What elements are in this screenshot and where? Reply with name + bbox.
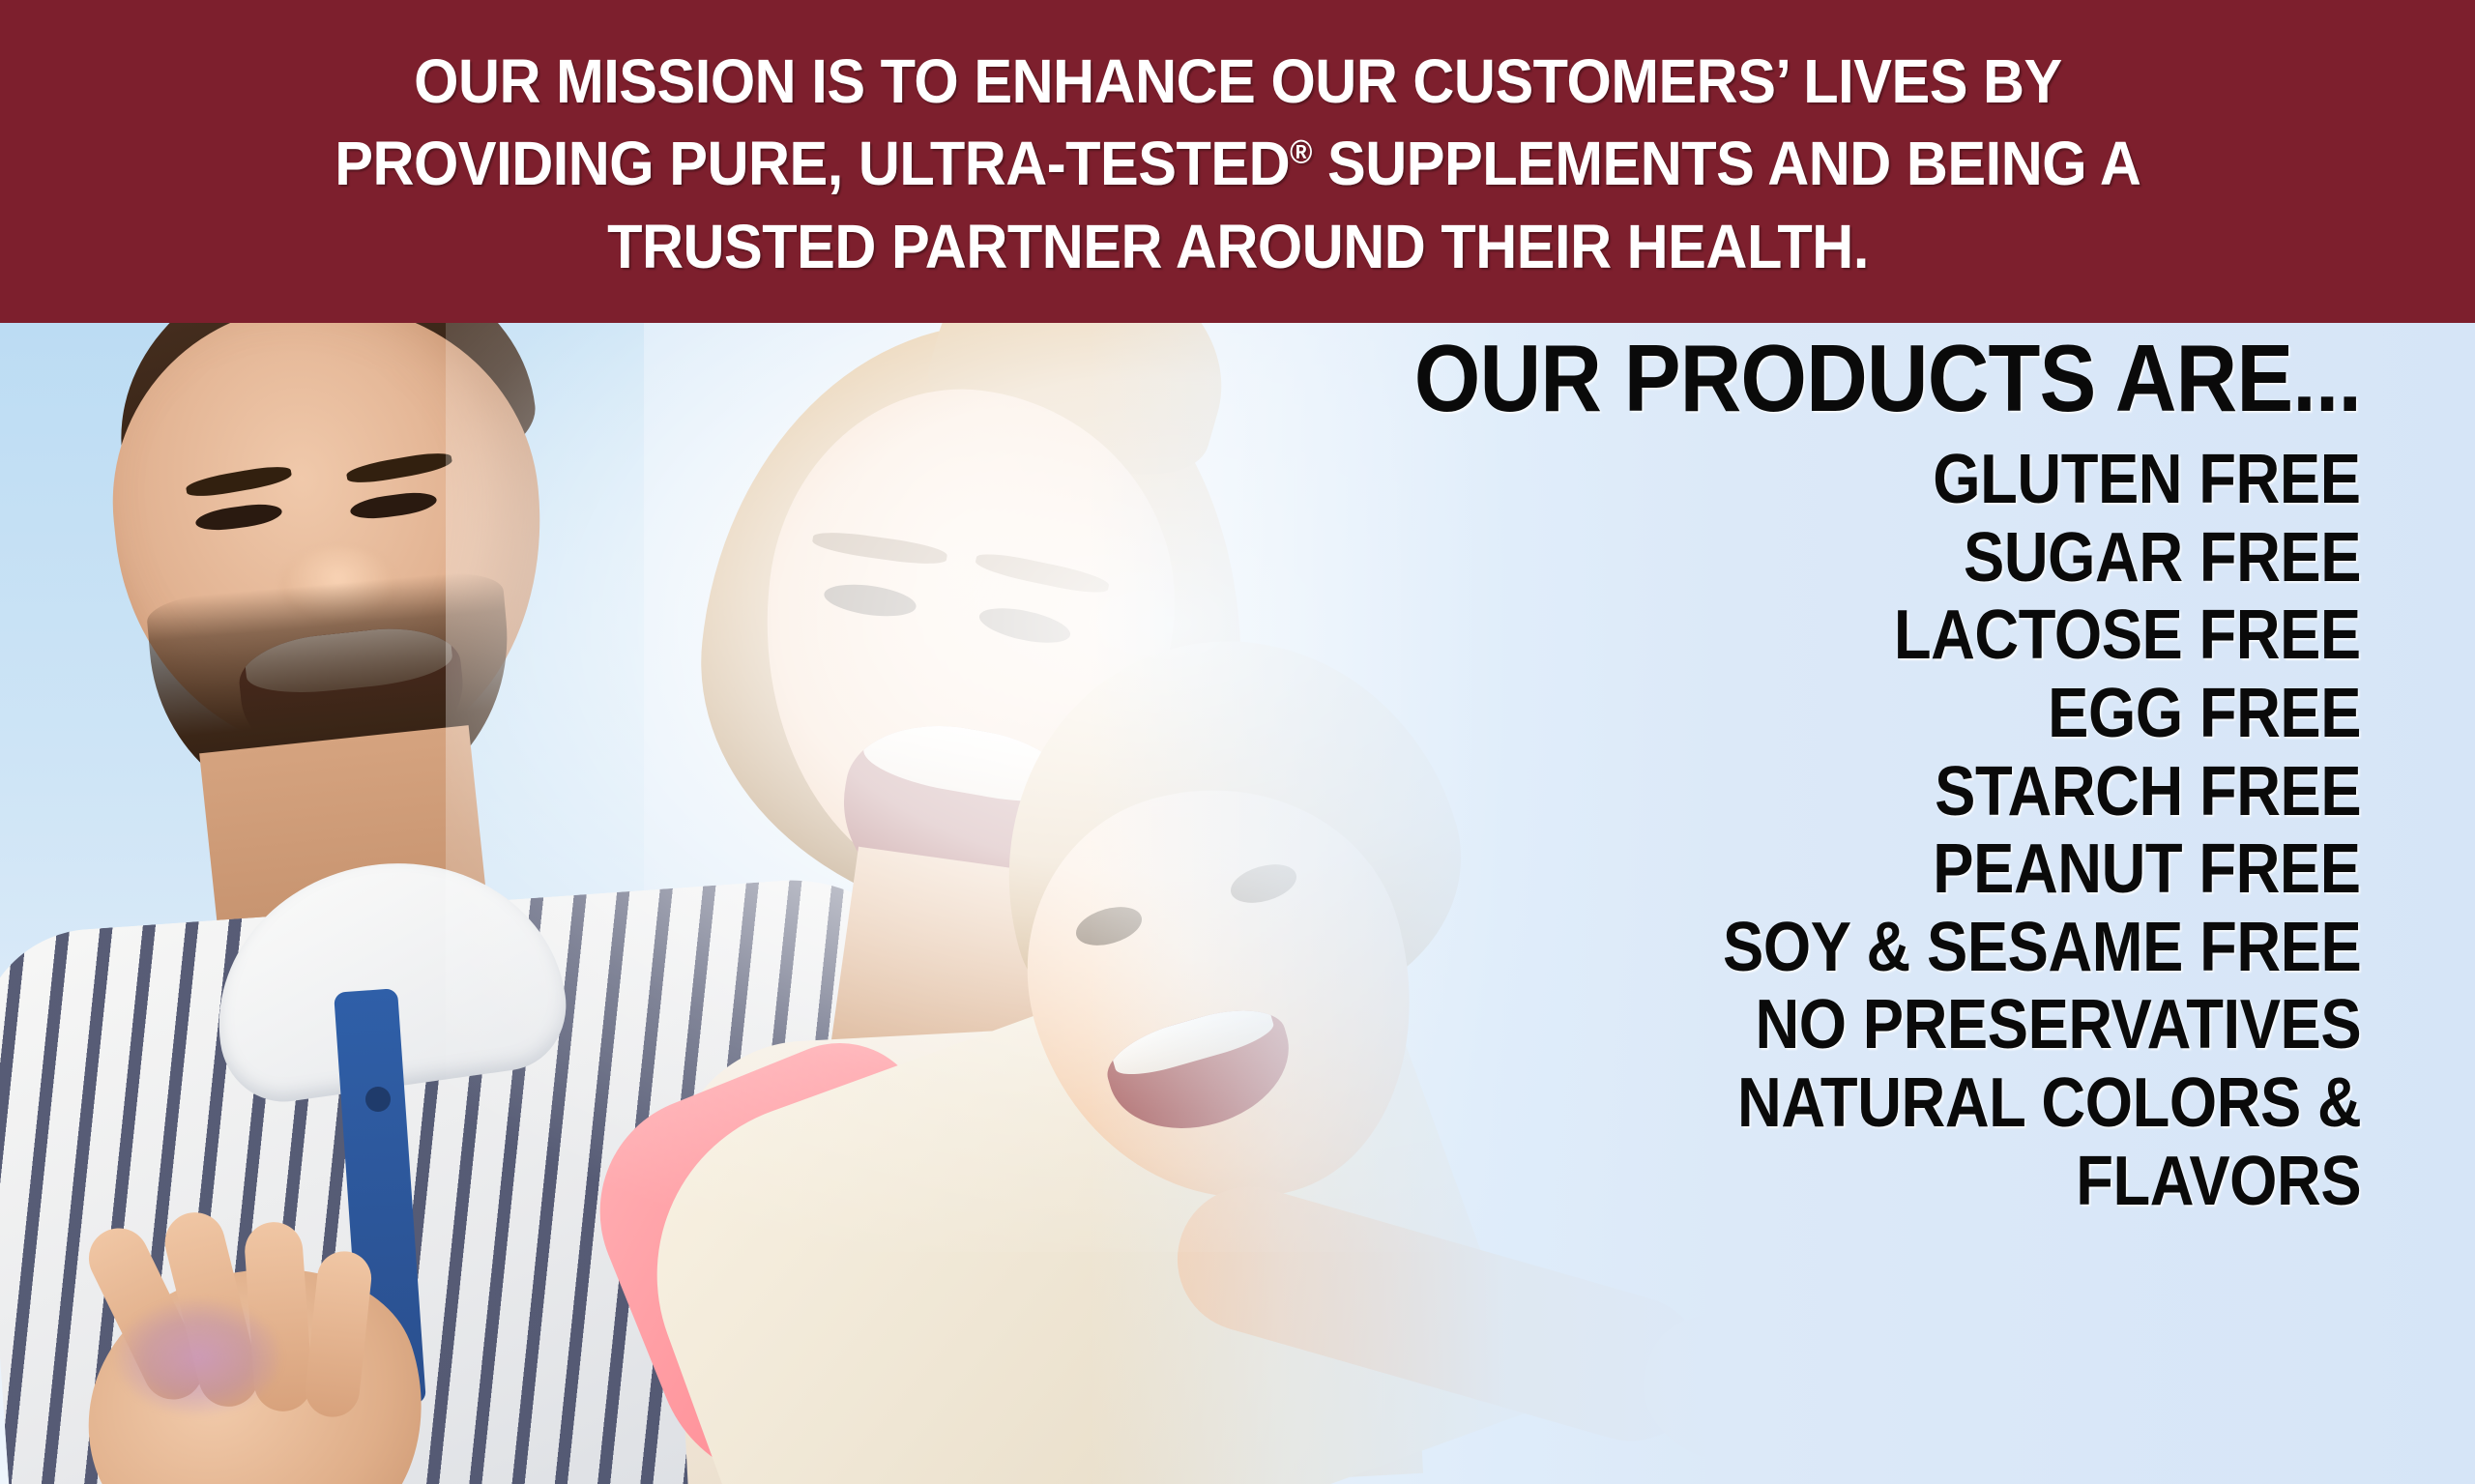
product-item: SOY & SESAME FREE	[1723, 909, 2361, 987]
mission-line-3: TRUSTED PARTNER AROUND THEIR HEALTH.	[607, 206, 1869, 288]
products-list: GLUTEN FREE SUGAR FREE LACTOSE FREE EGG …	[1636, 441, 2361, 1220]
mission-line-2: PROVIDING PURE, ULTRA-TESTED® SUPPLEMENT…	[335, 123, 2140, 205]
product-item: SUGAR FREE	[1964, 519, 2361, 597]
products-heading: OUR PRODUCTS ARE...	[1414, 331, 2361, 425]
product-item: PEANUT FREE	[1934, 830, 2361, 909]
mission-banner: OUR MISSION IS TO ENHANCE OUR CUSTOMERS’…	[0, 0, 2475, 323]
registered-trademark-icon: ®	[1290, 134, 1312, 171]
product-item: STARCH FREE	[1935, 753, 2361, 831]
mission-line-2-text: PROVIDING PURE, ULTRA-TESTED	[335, 129, 1290, 198]
product-item: GLUTEN FREE	[1934, 441, 2361, 519]
product-item: EGG FREE	[2048, 675, 2361, 753]
product-item: NATURAL COLORS &	[1737, 1064, 2361, 1143]
mission-line-2-tail: SUPPLEMENTS AND BEING A	[1312, 129, 2140, 198]
product-item: NO PRESERVATIVES	[1755, 986, 2361, 1064]
family-photo: OUR PRODUCTS ARE... GLUTEN FREE SUGAR FR…	[0, 323, 2475, 1484]
man-shirt-button-1	[365, 1087, 391, 1112]
product-item: LACTOSE FREE	[1894, 597, 2361, 675]
lens-flare	[116, 1299, 280, 1415]
promotional-banner-page: OUR MISSION IS TO ENHANCE OUR CUSTOMERS’…	[0, 0, 2475, 1484]
product-item: FLAVORS	[2076, 1143, 2361, 1221]
mission-line-1: OUR MISSION IS TO ENHANCE OUR CUSTOMERS’…	[414, 41, 2062, 123]
products-panel: OUR PRODUCTS ARE... GLUTEN FREE SUGAR FR…	[988, 323, 2361, 1484]
